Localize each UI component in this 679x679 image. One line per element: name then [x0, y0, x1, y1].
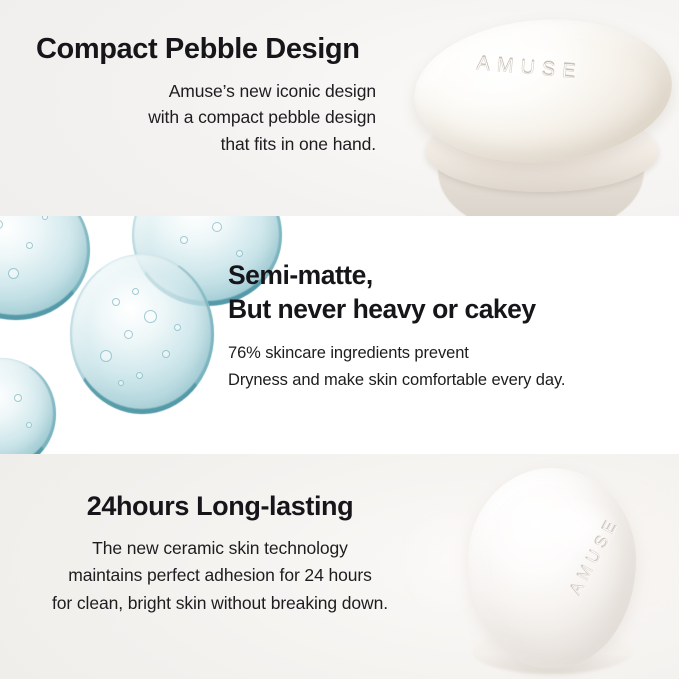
panel3-body: The new ceramic skin technology maintain…	[0, 535, 440, 618]
panel3-body-line: The new ceramic skin technology	[0, 535, 440, 563]
panel-24hours-long-lasting: AMUSE 24hours Long-lasting The new ceram…	[0, 454, 679, 679]
gel-blob	[0, 358, 56, 454]
panel3-text-block: 24hours Long-lasting The new ceramic ski…	[0, 492, 440, 618]
panel1-heading: Compact Pebble Design	[0, 34, 384, 66]
panel1-body-line: that fits in one hand.	[0, 131, 376, 158]
panel2-text-block: Semi-matte, But never heavy or cakey 76%…	[228, 258, 668, 393]
panel2-body-line: Dryness and make skin comfortable every …	[228, 367, 668, 394]
panel1-body-line: Amuse’s new iconic design	[0, 78, 376, 105]
panel3-body-line: maintains perfect adhesion for 24 hours	[0, 562, 440, 590]
panel1-body: Amuse’s new iconic design with a compact…	[0, 78, 384, 158]
panel3-body-line: for clean, bright skin without breaking …	[0, 590, 440, 618]
panel-semi-matte: Semi-matte, But never heavy or cakey 76%…	[0, 216, 679, 454]
gel-blob-primary	[70, 254, 214, 414]
panel1-text-block: Compact Pebble Design Amuse’s new iconic…	[0, 34, 384, 158]
panel2-heading: Semi-matte, But never heavy or cakey	[228, 258, 668, 327]
gel-texture-graphic	[0, 216, 250, 454]
product-feature-page: AMUSE Compact Pebble Design Amuse’s new …	[0, 0, 679, 679]
panel2-body: 76% skincare ingredients prevent Dryness…	[228, 340, 668, 393]
compact-body: AMUSE	[468, 468, 636, 668]
product-compact-top-view: AMUSE	[404, 8, 679, 216]
panel2-heading-line: But never heavy or cakey	[228, 292, 668, 326]
panel3-heading: 24hours Long-lasting	[0, 492, 440, 522]
panel2-heading-line: Semi-matte,	[228, 258, 668, 292]
panel1-body-line: with a compact pebble design	[0, 104, 376, 131]
panel-compact-pebble-design: AMUSE Compact Pebble Design Amuse’s new …	[0, 0, 679, 216]
product-compact-upright: AMUSE	[424, 454, 679, 679]
panel2-body-line: 76% skincare ingredients prevent	[228, 340, 668, 367]
